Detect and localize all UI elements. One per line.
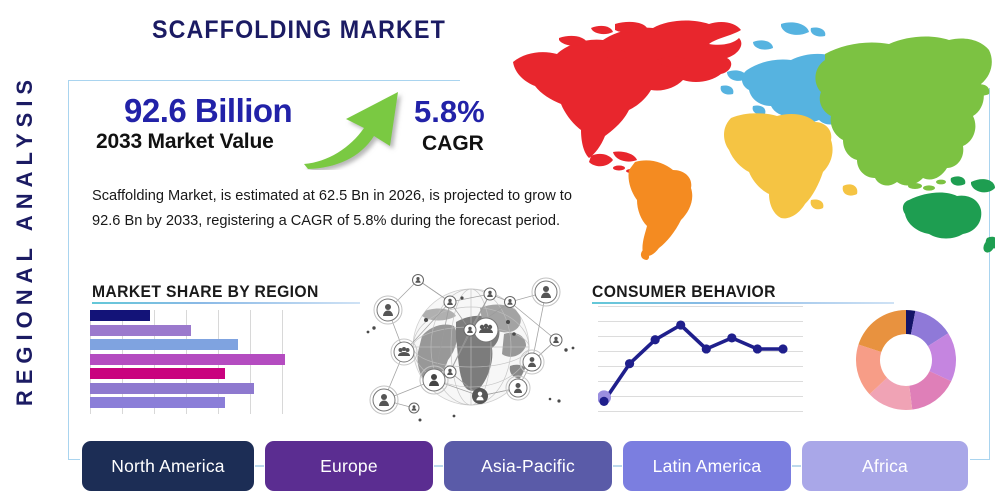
- region-pill-label: Europe: [320, 456, 378, 477]
- bar-chart-bar: [90, 354, 285, 365]
- world-map: [495, 10, 995, 265]
- cagr-figure: 5.8%: [414, 94, 485, 130]
- map-region-north-america: [513, 21, 741, 176]
- pill-connector: [434, 465, 443, 467]
- line-chart-marker: [702, 344, 711, 353]
- global-network-graphic: [360, 268, 582, 426]
- market-share-rule: [92, 302, 360, 304]
- bar-chart-bar: [90, 368, 225, 379]
- bar-chart-bar: [90, 325, 191, 336]
- page-title: SCAFFOLDING MARKET: [152, 16, 446, 45]
- region-pill-label: North America: [111, 456, 224, 477]
- bar-chart-bar: [90, 397, 225, 408]
- line-chart-marker: [727, 333, 736, 342]
- line-chart-marker: [778, 344, 787, 353]
- market-share-bar-chart: [90, 310, 285, 414]
- line-chart-marker: [625, 359, 634, 368]
- bar-chart-bar: [90, 310, 150, 321]
- infographic-root: REGIONAL ANALYSIS SCAFFOLDING MARKET 92.…: [0, 0, 1000, 500]
- market-value-caption: 2033 Market Value: [96, 130, 274, 154]
- line-chart-marker: [753, 344, 762, 353]
- region-pill-label: Africa: [862, 456, 908, 477]
- region-pill-row: North AmericaEuropeAsia-PacificLatin Ame…: [82, 441, 992, 491]
- pill-connector: [613, 465, 622, 467]
- cagr-caption: CAGR: [422, 132, 484, 156]
- line-chart-marker: [676, 320, 685, 329]
- map-region-south-america: [628, 160, 692, 260]
- region-pill-asia-pacific[interactable]: Asia-Pacific: [444, 441, 612, 491]
- region-pill-latin-america[interactable]: Latin America: [623, 441, 791, 491]
- line-chart-marker: [599, 397, 608, 406]
- region-pill-europe[interactable]: Europe: [265, 441, 433, 491]
- region-pill-north-america[interactable]: North America: [82, 441, 254, 491]
- growth-arrow-icon: [302, 88, 412, 170]
- side-label-regional-analysis: REGIONAL ANALYSIS: [12, 40, 52, 440]
- bar-chart-bar: [90, 339, 238, 350]
- market-value-figure: 92.6 Billion: [124, 92, 292, 130]
- pill-connector: [255, 465, 264, 467]
- pill-connector: [792, 465, 801, 467]
- region-pill-label: Latin America: [653, 456, 762, 477]
- map-region-asia: [815, 37, 991, 191]
- donut-segment: [858, 310, 906, 352]
- bar-chart-bar: [90, 383, 254, 394]
- consumer-behavior-line-chart: [598, 306, 803, 414]
- market-share-heading: MARKET SHARE BY REGION: [92, 283, 319, 302]
- consumer-behavior-rule: [592, 302, 894, 304]
- region-pill-label: Asia-Pacific: [481, 456, 575, 477]
- line-chart-marker: [651, 335, 660, 344]
- hero-stats: 92.6 Billion 2033 Market Value 5.8% CAGR: [96, 92, 516, 172]
- region-pill-africa[interactable]: Africa: [802, 441, 968, 491]
- regional-distribution-donut: [852, 306, 960, 414]
- consumer-behavior-heading: CONSUMER BEHAVIOR: [592, 283, 776, 302]
